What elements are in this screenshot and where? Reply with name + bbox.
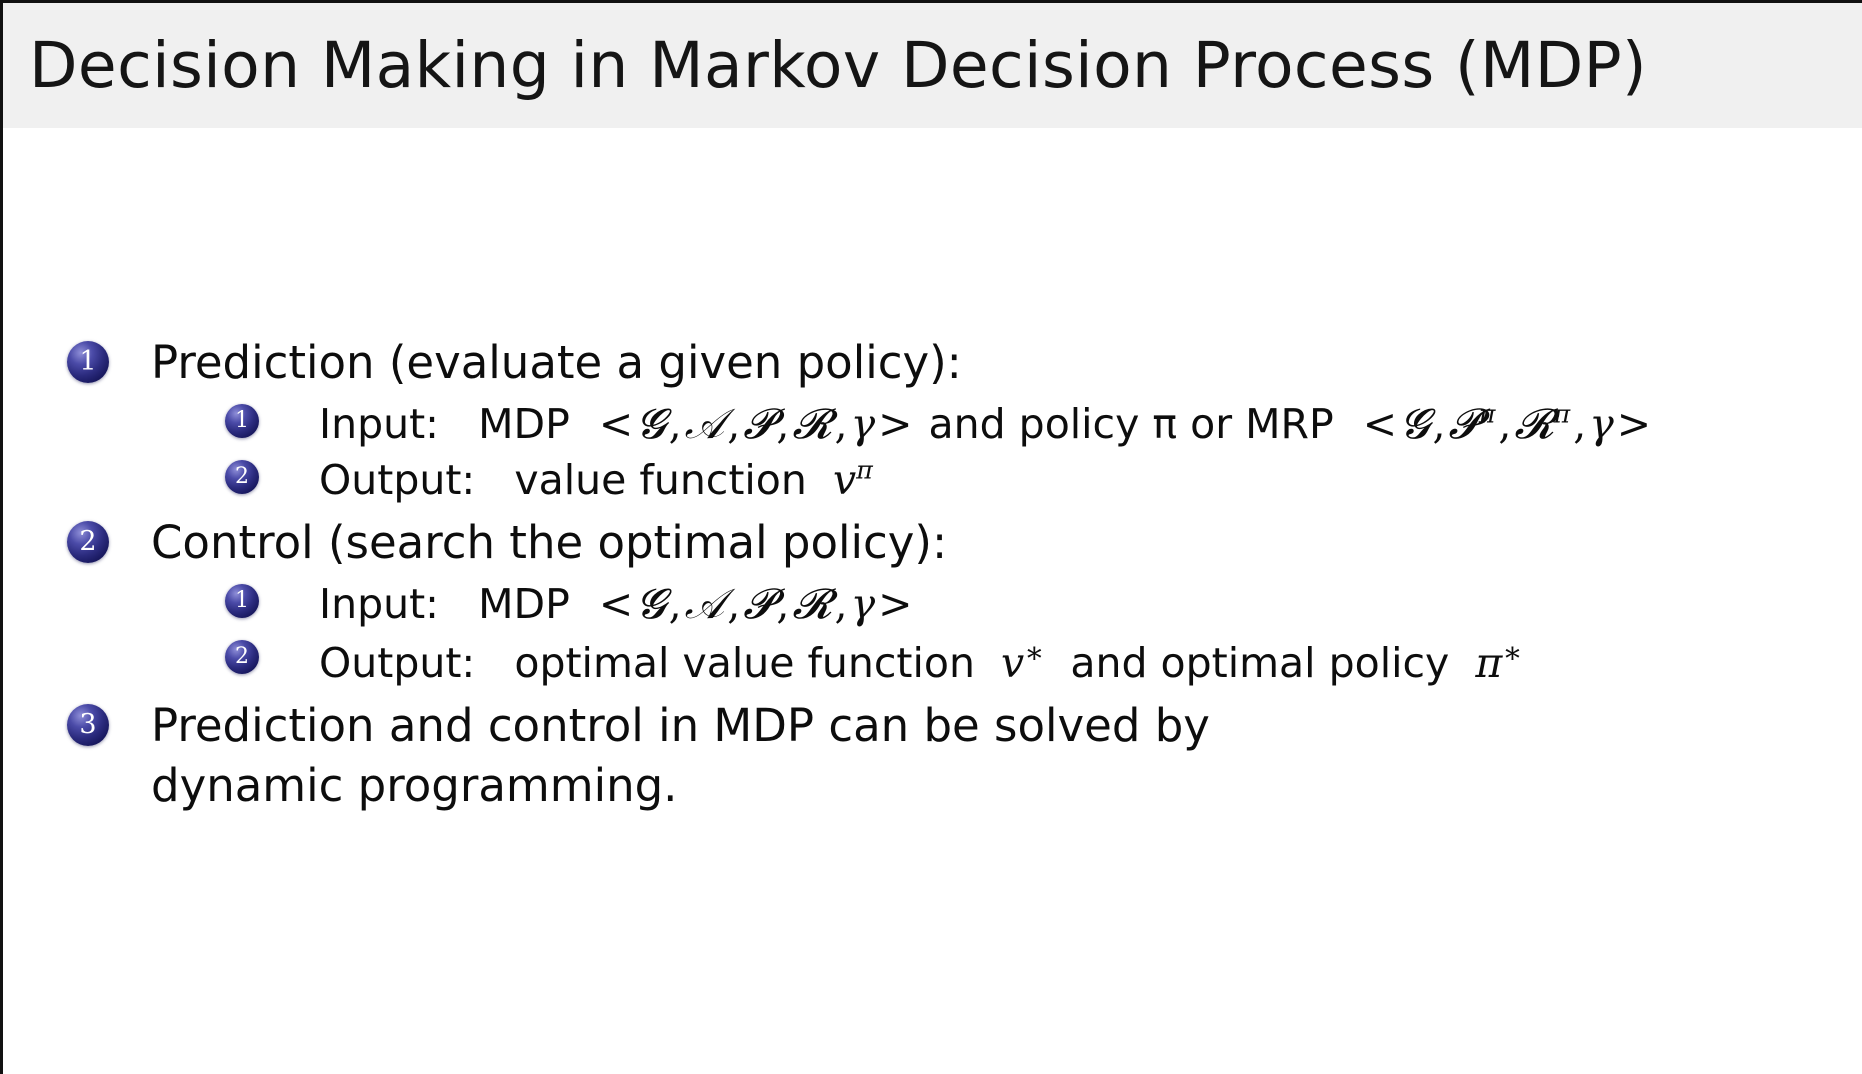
numbered-bullet-icon: 2 — [225, 640, 259, 674]
numbered-bullet-icon: 2 — [225, 460, 259, 494]
sub-item-label: Output: — [319, 456, 475, 504]
page-title: Decision Making in Markov Decision Proce… — [3, 34, 1647, 97]
sub-item-body: MDP — [478, 580, 570, 628]
list-item-text: Control (search the optimal policy): — [151, 516, 947, 569]
list-item: 2 Output: value function vπ — [201, 453, 1862, 507]
list-item: 1 Input: MDP <𝓖,𝒜,𝓟,𝓡,γ> and policy π or… — [201, 397, 1862, 451]
optimal-value-function-symbol: v∗ — [988, 639, 1057, 687]
numbered-bullet-icon: 3 — [67, 704, 109, 746]
sub-item-label: Input: — [319, 580, 439, 628]
mdp-tuple-expression: <𝓖,𝒜,𝓟,𝓡,γ> — [583, 400, 916, 448]
mdp-tuple-expression: <𝓖,𝒜,𝓟,𝓡,γ> — [583, 580, 916, 628]
list-item: 2 Control (search the optimal policy): 1… — [3, 513, 1862, 690]
sub-item-body: optimal value function — [514, 639, 975, 687]
list-item: 1 Input: MDP <𝓖,𝒜,𝓟,𝓡,γ> — [201, 577, 1862, 631]
sub-outline-list: 1 Input: MDP <𝓖,𝒜,𝓟,𝓡,γ> 2 Output: optim… — [151, 577, 1862, 690]
sub-item-middle-text: and policy π or MRP — [929, 400, 1334, 448]
slide-canvas: Decision Making in Markov Decision Proce… — [0, 0, 1862, 1074]
sub-item-middle-text: and optimal policy — [1070, 639, 1449, 687]
slide-title-bar: Decision Making in Markov Decision Proce… — [3, 3, 1862, 128]
list-item-text: Prediction and control in MDP can be sol… — [151, 699, 1210, 812]
list-item: 2 Output: optimal value function v∗ and … — [201, 633, 1862, 690]
sub-item-label: Input: — [319, 400, 439, 448]
sub-outline-list: 1 Input: MDP <𝓖,𝒜,𝓟,𝓡,γ> and policy π or… — [151, 397, 1862, 507]
numbered-bullet-icon: 1 — [67, 341, 109, 383]
numbered-bullet-icon: 1 — [225, 584, 259, 618]
outline-list: 1 Prediction (evaluate a given policy): … — [3, 333, 1862, 816]
mrp-tuple-expression: <𝓖,𝓟π,𝓡π,γ> — [1347, 400, 1654, 448]
numbered-bullet-icon: 1 — [225, 404, 259, 438]
numbered-bullet-icon: 2 — [67, 521, 109, 563]
optimal-policy-symbol: π∗ — [1462, 639, 1522, 687]
sub-item-label: Output: — [319, 639, 475, 687]
slide-body: 1 Prediction (evaluate a given policy): … — [3, 333, 1862, 822]
list-item: 3 Prediction and control in MDP can be s… — [3, 696, 1391, 816]
value-function-symbol: vπ — [820, 456, 873, 504]
sub-item-body: value function — [514, 456, 807, 504]
list-item-text: Prediction (evaluate a given policy): — [151, 336, 962, 389]
list-item: 1 Prediction (evaluate a given policy): … — [3, 333, 1862, 507]
sub-item-body: MDP — [478, 400, 570, 448]
